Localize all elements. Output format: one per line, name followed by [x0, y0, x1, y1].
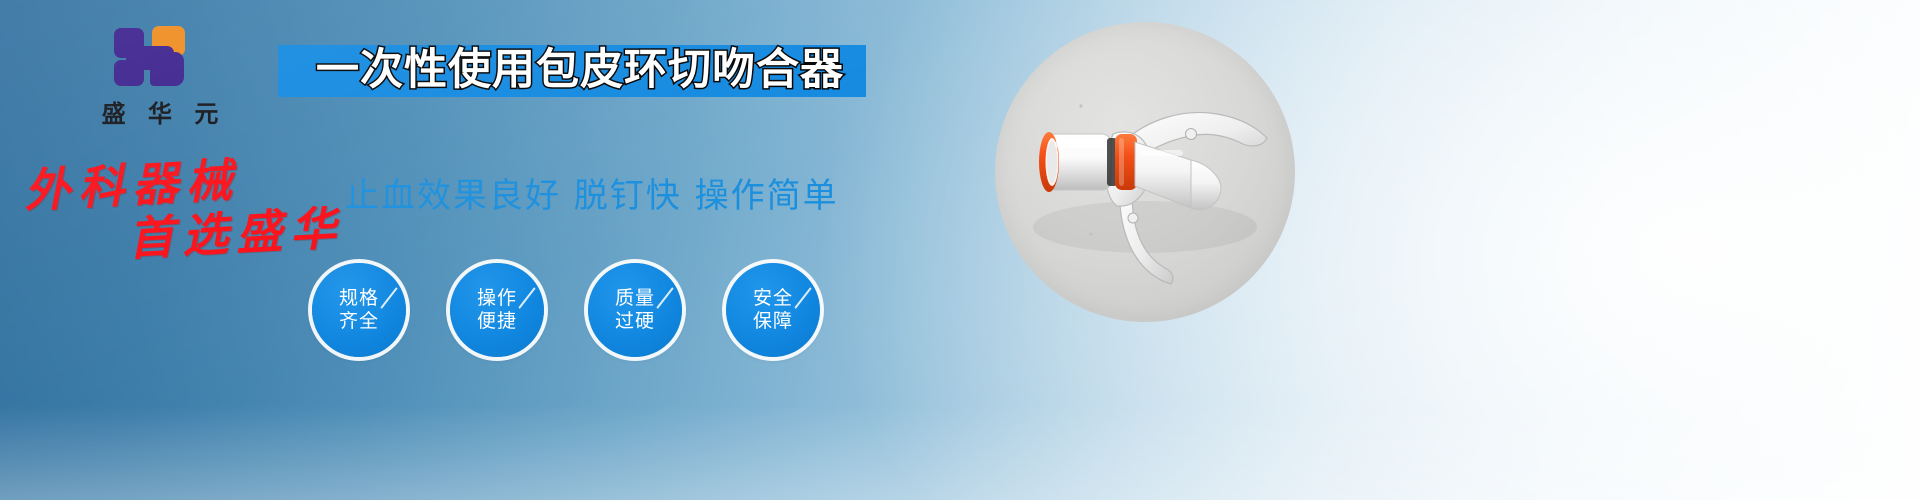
slash-icon: [656, 287, 674, 309]
brand-name: 盛 华 元: [60, 94, 260, 129]
bottom-fade-overlay: [0, 405, 1920, 500]
feature-badge-line-2: 便捷: [477, 310, 517, 333]
subtitle: 止血效果良好 脱钉快 操作简单: [345, 168, 839, 217]
feature-badge[interactable]: 规格 齐全: [312, 263, 406, 357]
feature-badge[interactable]: 安全 保障: [726, 263, 820, 357]
feature-badge-line-2: 齐全: [339, 310, 379, 333]
feature-badge-line-2: 保障: [753, 310, 793, 333]
slash-icon: [380, 287, 398, 309]
feature-badge-line-1: 质量: [615, 287, 655, 310]
feature-badge-line-2: 过硬: [615, 310, 655, 333]
slash-icon: [518, 287, 536, 309]
feature-badge[interactable]: 质量 过硬: [588, 263, 682, 357]
product-illustration: [995, 22, 1295, 322]
feature-badge-line-1: 操作: [477, 287, 517, 310]
promo-banner: 盛 华 元 一次性使用包皮环切吻合器 外科器械 首选盛华 止血效果良好 脱钉快 …: [0, 0, 1920, 500]
logo-block-bottom-right: [150, 52, 184, 86]
feature-badge-line-1: 规格: [339, 287, 379, 310]
logo-block-bottom-left: [114, 60, 144, 86]
feature-badge[interactable]: 操作 便捷: [450, 263, 544, 357]
slash-icon: [794, 287, 812, 309]
page-title: 一次性使用包皮环切吻合器: [290, 41, 870, 99]
brand-logo: 盛 华 元: [60, 26, 260, 126]
feature-badge-list: 规格 齐全 操作 便捷 质量 过硬 安全 保障: [312, 263, 820, 357]
slogan-line-2: 首选盛华: [126, 192, 345, 269]
logo-mark-icon: [112, 26, 208, 88]
feature-badge-line-1: 安全: [753, 287, 793, 310]
product-photo: [995, 22, 1295, 322]
